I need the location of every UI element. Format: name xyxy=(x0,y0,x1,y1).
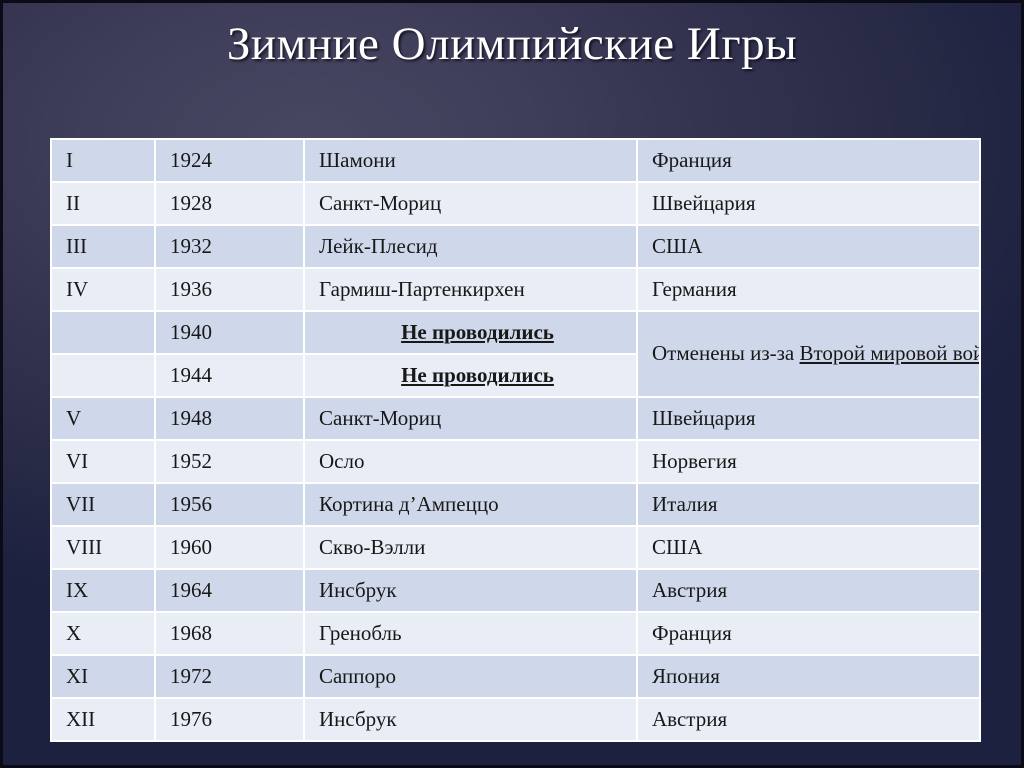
cell-city: Санкт-Мориц xyxy=(304,182,637,225)
cell-year: 1932 xyxy=(155,225,304,268)
cell-number: IX xyxy=(51,569,155,612)
cell-number: X xyxy=(51,612,155,655)
winter-olympics-table: I 1924 Шамони Франция II 1928 Санкт-Мори… xyxy=(50,138,981,742)
cell-country: Франция xyxy=(637,612,980,655)
cell-country: Франция xyxy=(637,139,980,182)
table-row: X 1968 Гренобль Франция xyxy=(51,612,980,655)
cell-city: Гармиш-Партенкирхен xyxy=(304,268,637,311)
cell-year: 1928 xyxy=(155,182,304,225)
slide-title-bar: Зимние Олимпийские Игры xyxy=(3,19,1021,70)
table-row: VI 1952 Осло Норвегия xyxy=(51,440,980,483)
cell-country: США xyxy=(637,526,980,569)
cell-year: 1952 xyxy=(155,440,304,483)
cell-number: XI xyxy=(51,655,155,698)
cell-city: Санкт-Мориц xyxy=(304,397,637,440)
cell-year: 1968 xyxy=(155,612,304,655)
table-row: V 1948 Санкт-Мориц Швейцария xyxy=(51,397,980,440)
cell-city: Инсбрук xyxy=(304,569,637,612)
cell-number: VII xyxy=(51,483,155,526)
cell-number: XII xyxy=(51,698,155,741)
cell-number xyxy=(51,311,155,354)
cell-number: II xyxy=(51,182,155,225)
cell-country: Германия xyxy=(637,268,980,311)
cell-year: 1936 xyxy=(155,268,304,311)
cell-number: III xyxy=(51,225,155,268)
table-row: XII 1976 Инсбрук Австрия xyxy=(51,698,980,741)
cancelled-label: Не проводились xyxy=(401,363,554,387)
page-title: Зимние Олимпийские Игры xyxy=(227,19,797,70)
cell-city-cancelled: Не проводились xyxy=(304,311,637,354)
cell-city: Саппоро xyxy=(304,655,637,698)
cell-number: V xyxy=(51,397,155,440)
cell-number: I xyxy=(51,139,155,182)
cell-city-cancelled: Не проводились xyxy=(304,354,637,397)
table-row: XI 1972 Саппоро Япония xyxy=(51,655,980,698)
cell-country: Австрия xyxy=(637,569,980,612)
cell-country: Япония xyxy=(637,655,980,698)
table-row: IX 1964 Инсбрук Австрия xyxy=(51,569,980,612)
cell-war-cancellation-note: Отменены из-за Второй мировой войны xyxy=(637,311,980,397)
cancelled-label: Не проводились xyxy=(401,320,554,344)
cell-year: 1924 xyxy=(155,139,304,182)
cell-year: 1972 xyxy=(155,655,304,698)
cell-year: 1940 xyxy=(155,311,304,354)
cell-year: 1948 xyxy=(155,397,304,440)
cell-number xyxy=(51,354,155,397)
cell-city: Гренобль xyxy=(304,612,637,655)
cell-city: Лейк-Плесид xyxy=(304,225,637,268)
cell-city: Шамони xyxy=(304,139,637,182)
cell-number: IV xyxy=(51,268,155,311)
table-row-cancelled: 1940 Не проводились Отменены из-за Второ… xyxy=(51,311,980,354)
cell-city: Инсбрук xyxy=(304,698,637,741)
cell-country: Швейцария xyxy=(637,397,980,440)
presentation-slide: Зимние Олимпийские Игры I 1924 Шамони Фр… xyxy=(0,0,1024,768)
cell-year: 1964 xyxy=(155,569,304,612)
table-row: II 1928 Санкт-Мориц Швейцария xyxy=(51,182,980,225)
war-note-underlined: Второй мировой войны xyxy=(800,341,980,365)
cell-number: VIII xyxy=(51,526,155,569)
table-row: VIII 1960 Скво-Вэлли США xyxy=(51,526,980,569)
cell-year: 1956 xyxy=(155,483,304,526)
war-note-prefix: Отменены из-за xyxy=(652,341,800,365)
table-row: IV 1936 Гармиш-Партенкирхен Германия xyxy=(51,268,980,311)
cell-country: Австрия xyxy=(637,698,980,741)
table-row: I 1924 Шамони Франция xyxy=(51,139,980,182)
cell-country: Швейцария xyxy=(637,182,980,225)
table-row: III 1932 Лейк-Плесид США xyxy=(51,225,980,268)
cell-country: США xyxy=(637,225,980,268)
cell-city: Скво-Вэлли xyxy=(304,526,637,569)
cell-year: 1960 xyxy=(155,526,304,569)
cell-country: Норвегия xyxy=(637,440,980,483)
cell-year: 1976 xyxy=(155,698,304,741)
cell-country: Италия xyxy=(637,483,980,526)
cell-city: Кортина д’Ампеццо xyxy=(304,483,637,526)
table-row: VII 1956 Кортина д’Ампеццо Италия xyxy=(51,483,980,526)
cell-city: Осло xyxy=(304,440,637,483)
cell-number: VI xyxy=(51,440,155,483)
cell-year: 1944 xyxy=(155,354,304,397)
